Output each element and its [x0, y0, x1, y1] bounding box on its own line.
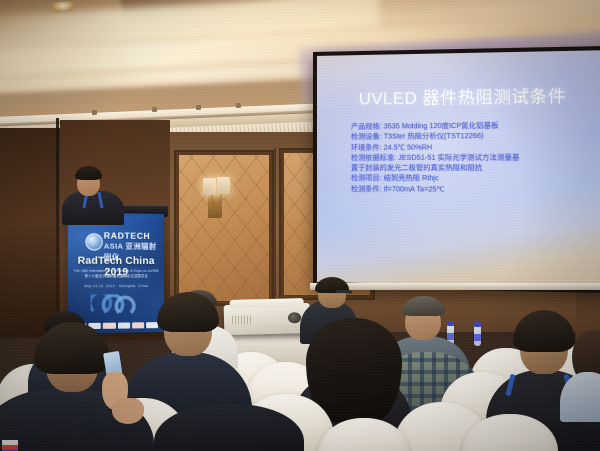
track-light-icon	[92, 110, 97, 115]
slide-line: 置于封装的发光二极管的真实热阻和阻抗	[351, 163, 600, 174]
speaker-body	[62, 191, 124, 225]
radtech-logo-text: RADTECH	[104, 231, 151, 241]
sconce-shade-right	[217, 177, 230, 194]
bottle-label	[447, 333, 454, 340]
projector-top-casing	[229, 298, 303, 308]
slide-body: 产品规格: 3535 Molding 120度ICP氮化铝基板 检测设备: T3…	[351, 120, 600, 196]
bottle-cap	[474, 322, 481, 327]
bottle-cap	[447, 321, 454, 326]
sponsor-logo	[103, 323, 115, 329]
sconce-shade-left	[203, 178, 216, 195]
water-bottle	[474, 326, 481, 346]
projector-lens-icon	[288, 312, 301, 323]
projection-screen: UVLED 器件热阻测试条件 产品规格: 3535 Molding 120度IC…	[313, 46, 600, 293]
podium: RADTECH ASIA 亚洲辐射固化 RadTech China 2019 T…	[68, 213, 164, 334]
sponsor-logo	[132, 322, 144, 328]
event-subtitle-line2: 第十六届亚洲辐射固化国际会议暨展览会	[68, 274, 164, 279]
forearm	[112, 398, 144, 424]
projection-screen-bottom-bar	[310, 283, 600, 290]
wall-panel-left	[176, 152, 272, 304]
track-light-icon	[152, 107, 157, 112]
pendant-light-icon	[52, 1, 75, 13]
slide-line: 检测项目: 结到壳热阻 Rthjc	[351, 174, 600, 185]
track-light-icon	[196, 105, 201, 110]
sponsor-logo	[118, 322, 130, 328]
track-light-icon	[236, 103, 241, 108]
radtech-logo-icon	[85, 233, 102, 250]
projection-screen-surface: UVLED 器件热阻测试条件 产品规格: 3535 Molding 120度IC…	[317, 50, 600, 288]
projector-vent-icon	[232, 315, 252, 325]
cc-swoosh-graphic-icon	[90, 294, 149, 317]
wall-seam	[274, 148, 276, 308]
conference-photo: UVLED 器件热阻测试条件 产品规格: 3535 Molding 120度IC…	[0, 0, 600, 451]
slide-line: 环境条件: 24.5℃ 50%RH	[351, 141, 600, 153]
event-date: May 14-16, 2019 · Shanghai, China	[68, 284, 164, 288]
slide-line: 检测条件: If=700mA Ta=25℃	[351, 184, 600, 195]
badge-icon	[2, 440, 18, 451]
slide-line: 检测依据标准: JESD51-51 实际光学测试方法测量基	[351, 152, 600, 163]
slide-title: UVLED 器件热阻测试条件	[317, 82, 600, 110]
projector	[224, 303, 311, 335]
bottle-label	[474, 334, 481, 341]
